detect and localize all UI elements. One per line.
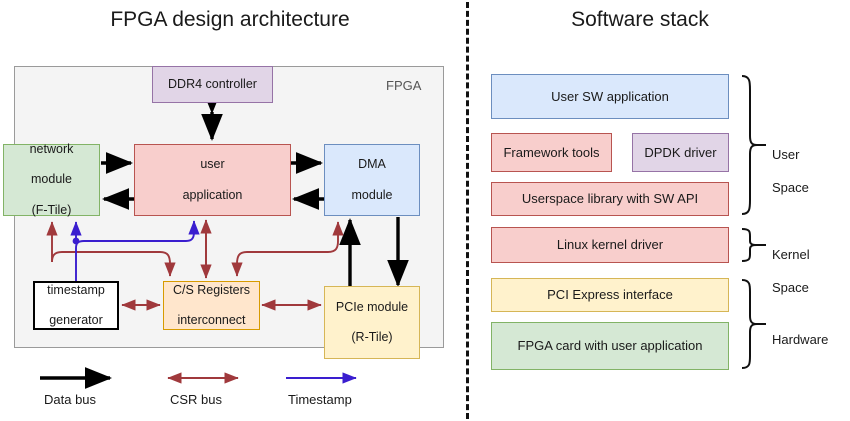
- block-label: DDR4 controller: [165, 77, 260, 92]
- stack-row-dpdk-driver[interactable]: DPDK driver: [632, 133, 729, 172]
- block-label-line: (R-Tile): [333, 330, 411, 345]
- fpga-container-label: FPGA: [386, 78, 421, 93]
- block-network-module[interactable]: network module (F-Tile): [3, 144, 100, 216]
- stack-group-kernel-space: Kernel Space: [772, 231, 810, 296]
- block-label-line: application: [180, 188, 246, 203]
- stack-row-fpga-card[interactable]: FPGA card with user application: [491, 322, 729, 370]
- block-label-line: generator: [44, 313, 108, 328]
- block-label: PCIe module (R-Tile): [330, 300, 414, 346]
- group-label-line: Hardware: [772, 332, 828, 347]
- block-user-application[interactable]: user application: [134, 144, 291, 216]
- stack-row-linux-kernel-driver[interactable]: Linux kernel driver: [491, 227, 729, 263]
- stack-row-label: User SW application: [548, 89, 672, 105]
- block-label-line: module: [349, 188, 396, 203]
- block-label-line: user: [180, 157, 246, 172]
- block-label-line: interconnect: [170, 313, 253, 328]
- block-pcie-module[interactable]: PCIe module (R-Tile): [324, 286, 420, 359]
- block-label: network module (F-Tile): [24, 142, 80, 218]
- group-label-line: User: [772, 147, 799, 162]
- stack-row-user-sw-application[interactable]: User SW application: [491, 74, 729, 119]
- stack-row-label: Userspace library with SW API: [519, 191, 701, 207]
- right-panel-title: Software stack: [490, 8, 790, 32]
- left-panel-title: FPGA design architecture: [60, 8, 400, 32]
- stack-group-user-space: User Space: [772, 131, 809, 196]
- group-label-line: Kernel: [772, 247, 810, 262]
- stack-row-label: FPGA card with user application: [515, 338, 706, 354]
- group-label-line: Space: [772, 180, 809, 195]
- stack-row-label: PCI Express interface: [544, 287, 676, 303]
- block-dma-module[interactable]: DMA module: [324, 144, 420, 216]
- block-label: C/S Registers interconnect: [167, 283, 256, 329]
- block-label-line: C/S Registers: [170, 283, 253, 298]
- block-label: user application: [177, 157, 249, 203]
- block-label: DMA module: [346, 157, 399, 203]
- block-label: timestamp generator: [41, 283, 111, 329]
- block-label-line: DMA: [349, 157, 396, 172]
- block-label-line: network: [27, 142, 77, 157]
- stack-row-pci-express-interface[interactable]: PCI Express interface: [491, 278, 729, 312]
- block-cs-registers-interconnect[interactable]: C/S Registers interconnect: [163, 281, 260, 330]
- panel-divider: [466, 2, 469, 419]
- stack-row-label: Linux kernel driver: [554, 237, 666, 253]
- block-ddr4-controller[interactable]: DDR4 controller: [152, 66, 273, 103]
- stack-row-userspace-library[interactable]: Userspace library with SW API: [491, 182, 729, 216]
- stack-row-framework-tools[interactable]: Framework tools: [491, 133, 612, 172]
- legend-label-csr-bus: CSR bus: [170, 392, 222, 407]
- legend-label-timestamp: Timestamp: [288, 392, 352, 407]
- block-timestamp-generator[interactable]: timestamp generator: [33, 281, 119, 330]
- stack-group-hardware: Hardware: [772, 316, 828, 349]
- diagram-canvas: FPGA design architecture Software stack …: [0, 0, 850, 421]
- legend-label-data-bus: Data bus: [44, 392, 96, 407]
- block-label-line: timestamp: [44, 283, 108, 298]
- stack-row-label: DPDK driver: [641, 145, 719, 161]
- block-label-line: PCIe module: [333, 300, 411, 315]
- stack-braces: [742, 76, 766, 368]
- block-label-line: (F-Tile): [27, 203, 77, 218]
- stack-row-label: Framework tools: [500, 145, 602, 161]
- group-label-line: Space: [772, 280, 809, 295]
- block-label-line: module: [27, 172, 77, 187]
